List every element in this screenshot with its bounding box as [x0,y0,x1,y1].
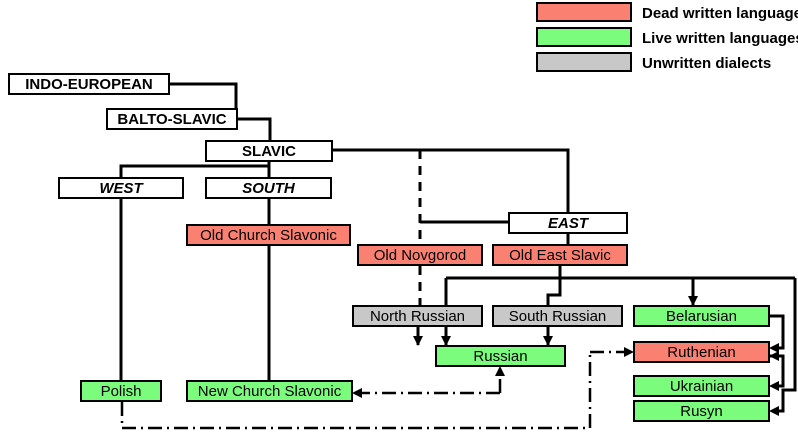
arrow-into-russian-c [495,366,505,376]
node-ruthenian[interactable]: Ruthenian [633,341,770,363]
node-west[interactable]: WEST [58,177,184,199]
arrow-into-ukrainian [769,381,779,391]
node-south-russian[interactable]: South Russian [492,305,623,327]
legend-label-unwritten: Unwritten dialects [642,56,771,71]
slavic-to-west [121,162,269,177]
arrow-into-russian-a [413,336,423,346]
node-polish[interactable]: Polish [80,380,162,402]
legend-label-dead: Dead written languages [642,6,798,21]
legend-swatch-dead [536,2,632,22]
node-balto-slavic[interactable]: BALTO-SLAVIC [106,108,238,130]
belarusian-to-ruthenian [770,316,783,348]
node-old-east-slavic[interactable]: Old East Slavic [492,244,628,266]
node-old-church-slavonic[interactable]: Old Church Slavonic [186,224,351,246]
node-russian[interactable]: Russian [435,345,566,367]
legend-swatch-live [536,27,632,47]
arrow-into-ncs [352,388,362,398]
node-slavic[interactable]: SLAVIC [205,140,333,162]
legend-swatch-unwritten [536,52,632,72]
node-east[interactable]: EAST [508,212,628,234]
balto-slavic-to-slavic [238,119,270,140]
slavic-to-east [333,150,568,212]
arrow-into-rusyn [769,406,779,416]
ruthenian-to-ukrainian [770,356,783,386]
oes-to-south-russian [548,278,560,305]
arrow-into-ruthenian-2 [769,351,779,361]
node-north-russian[interactable]: North Russian [352,305,483,327]
indo-european-to-balto-slavic [170,84,236,108]
node-new-church-slavonic[interactable]: New Church Slavonic [186,380,353,402]
legend-label-live: Live written languages [642,31,798,46]
node-south[interactable]: SOUTH [205,177,332,199]
node-indo-european[interactable]: INDO-EUROPEAN [8,73,170,95]
old-east-slavic-branch [446,266,795,295]
language-family-tree-diagram: INDO-EUROPEANBALTO-SLAVICSLAVICWESTSOUTH… [0,0,798,434]
node-old-novgorod[interactable]: Old Novgorod [357,244,483,266]
node-belarusian[interactable]: Belarusian [633,305,770,327]
arrow-into-ruthenian-1 [769,343,779,353]
node-rusyn[interactable]: Rusyn [633,400,770,422]
node-ukrainian[interactable]: Ukrainian [633,375,770,397]
